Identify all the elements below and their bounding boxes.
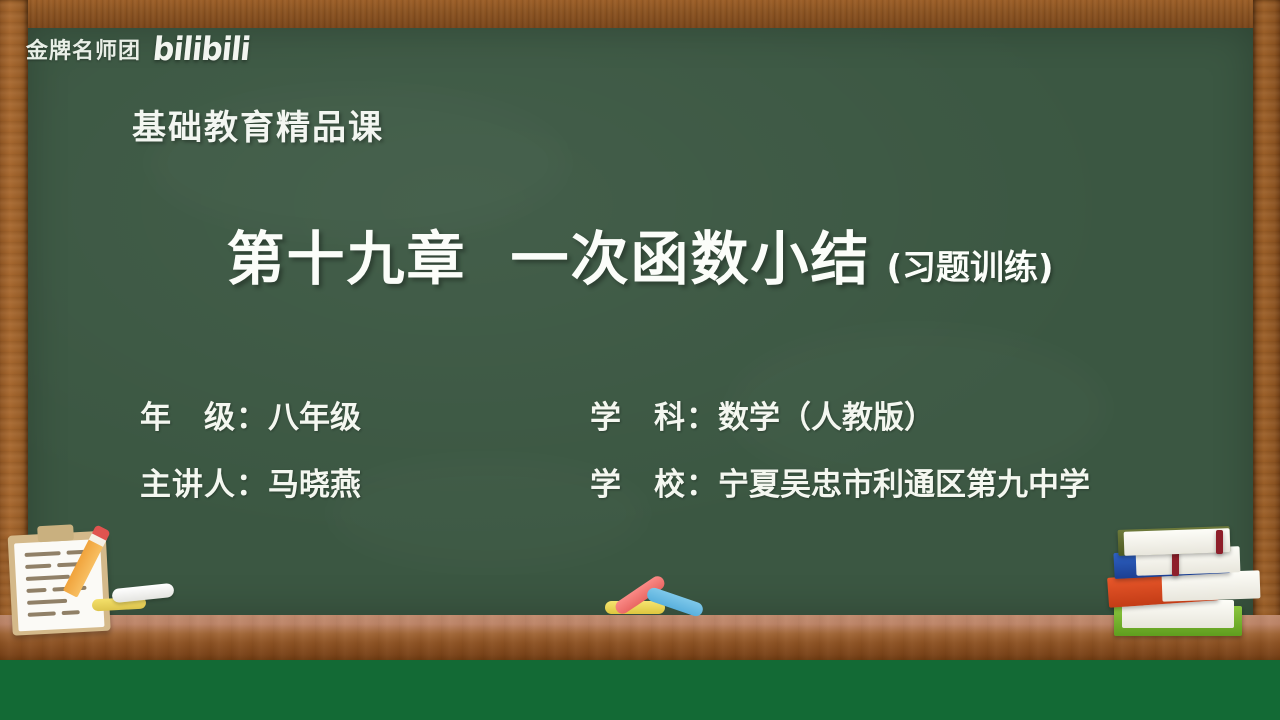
team-label: 金牌名师团 bbox=[26, 33, 141, 65]
info-value-school: 宁夏吴忠市利通区第九中学 bbox=[718, 467, 1090, 503]
course-series-label: 基础教育精品课 bbox=[132, 100, 384, 149]
info-row-teacher: 主讲人：马晓燕 bbox=[140, 459, 590, 504]
info-label-teacher: 主讲人： bbox=[140, 467, 268, 503]
bilibili-logo: bilibili bbox=[151, 30, 252, 68]
page-title: 第十九章 一次函数小结 (习题训练) bbox=[0, 212, 1280, 296]
ledge-wood-grain bbox=[0, 615, 1280, 660]
info-value-subject: 数学（人教版） bbox=[718, 400, 935, 436]
info-row-subject: 学 科：数学（人教版） bbox=[590, 392, 1210, 437]
branding: 金牌名师团 bilibili bbox=[26, 30, 250, 68]
course-info-block: 年 级：八年级 学 科：数学（人教版） 主讲人：马晓燕 学 校：宁夏吴忠市利通区… bbox=[140, 392, 1210, 504]
info-value-grade: 八年级 bbox=[268, 400, 361, 436]
info-row-school: 学 校：宁夏吴忠市利通区第九中学 bbox=[590, 459, 1210, 504]
slide-canvas: 金牌名师团 bilibili 基础教育精品课 第十九章 一次函数小结 (习题训练… bbox=[0, 0, 1280, 720]
info-value-teacher: 马晓燕 bbox=[268, 467, 361, 503]
title-chapter: 第十九章 bbox=[226, 212, 466, 296]
chalk-ledge bbox=[0, 615, 1280, 660]
clipboard-clip bbox=[37, 524, 74, 542]
frame-top-rail bbox=[0, 0, 1280, 28]
info-label-grade: 年 级： bbox=[140, 400, 268, 436]
book-stack-icon bbox=[1112, 528, 1262, 643]
info-row-grade: 年 级：八年级 bbox=[140, 392, 590, 437]
title-subtitle: (习题训练) bbox=[886, 240, 1053, 289]
bottom-green-strip bbox=[0, 660, 1280, 720]
title-topic: 一次函数小结 bbox=[510, 212, 870, 296]
info-label-subject: 学 科： bbox=[590, 400, 718, 436]
info-label-school: 学 校： bbox=[590, 467, 718, 503]
